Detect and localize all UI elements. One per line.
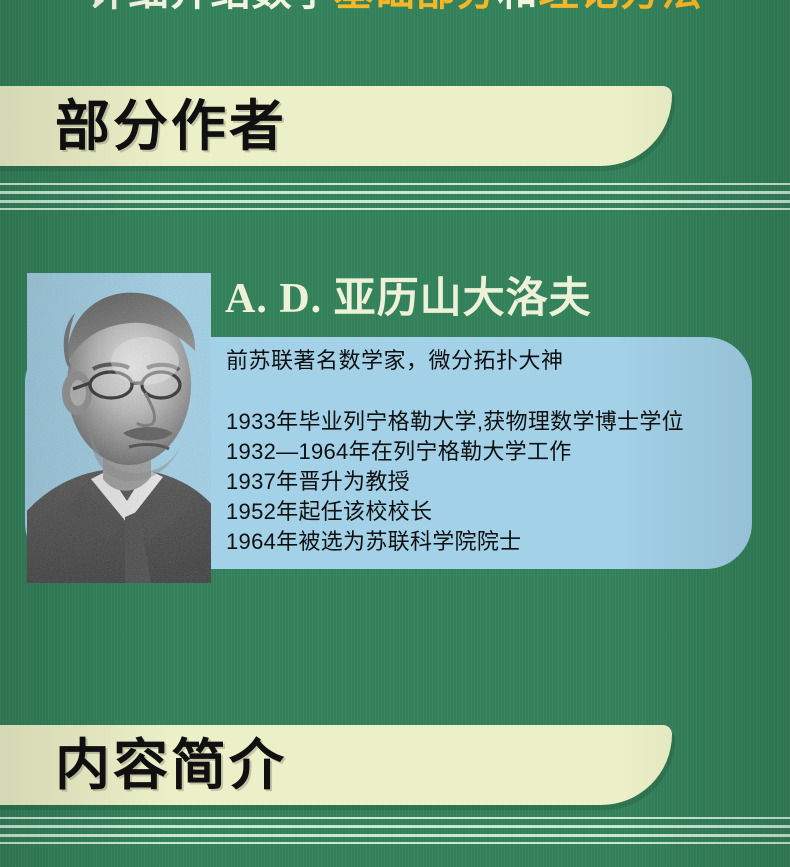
portrait-photo-icon xyxy=(27,273,211,583)
divider-stripes-bottom xyxy=(0,814,790,848)
top-headline-highlight2: 理论方法 xyxy=(539,0,703,14)
top-headline-part1: 详细介绍数学 xyxy=(88,0,334,14)
author-portrait xyxy=(27,273,211,583)
author-fact: 1933年毕业列宁格勒大学,获物理数学博士学位 xyxy=(226,407,684,437)
author-tagline: 前苏联著名数学家，微分拓扑大神 xyxy=(226,348,564,374)
top-headline-highlight1: 基础部分 xyxy=(334,0,498,14)
divider-rule xyxy=(0,834,790,837)
author-fact: 1932—1964年在列宁格勒大学工作 xyxy=(226,437,684,467)
section-banner-intro-label: 内容简介 xyxy=(55,738,287,793)
author-fact: 1937年晋升为教授 xyxy=(226,467,684,497)
divider-stripes-top xyxy=(0,180,790,214)
promotional-page: 详细介绍数学基础部分和理论方法 部分作者 xyxy=(0,0,790,867)
top-headline: 详细介绍数学基础部分和理论方法 xyxy=(0,0,790,18)
top-headline-part2: 和 xyxy=(498,0,539,14)
author-facts-list: 1933年毕业列宁格勒大学,获物理数学博士学位 1932—1964年在列宁格勒大… xyxy=(226,407,684,557)
divider-rule xyxy=(0,817,790,819)
divider-rule xyxy=(0,191,790,194)
author-fact: 1952年起任该校校长 xyxy=(226,497,684,527)
divider-rule xyxy=(0,183,790,185)
divider-rule xyxy=(0,825,790,828)
divider-rule xyxy=(0,200,790,203)
section-banner-authors: 部分作者 xyxy=(0,86,672,166)
author-fact: 1964年被选为苏联科学院院士 xyxy=(226,527,684,557)
author-name: A. D. 亚历山大洛夫 xyxy=(225,276,592,322)
divider-rule xyxy=(0,842,790,844)
divider-rule xyxy=(0,208,790,210)
section-banner-authors-label: 部分作者 xyxy=(55,99,287,154)
section-banner-intro: 内容简介 xyxy=(0,725,672,805)
